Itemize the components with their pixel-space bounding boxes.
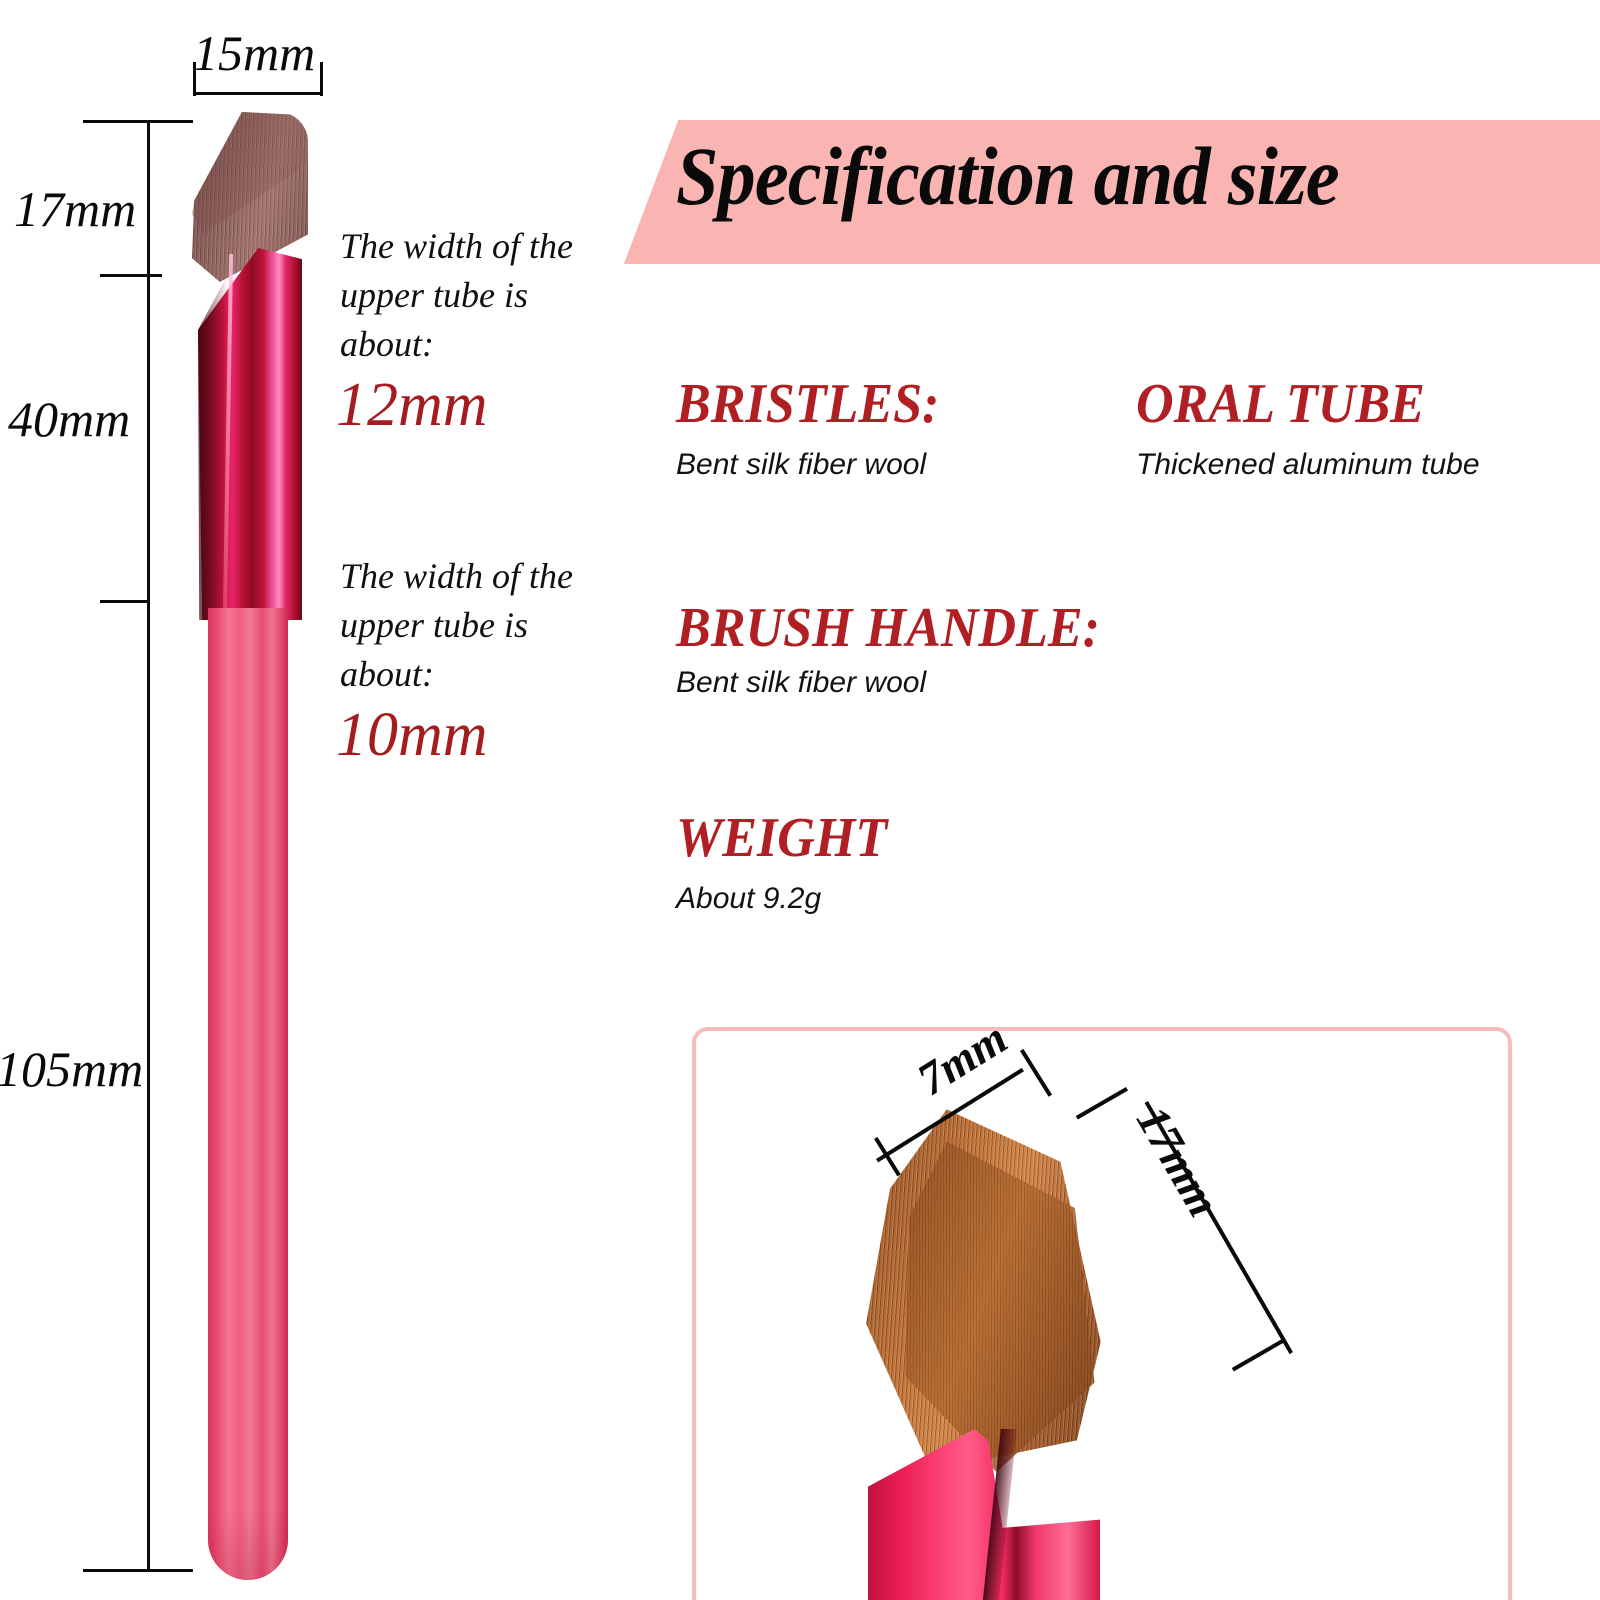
closeup-17mm-tick-bottom	[1232, 1339, 1284, 1371]
page-title: Specification and size	[676, 128, 1504, 224]
closeup-7mm-tick-right	[1020, 1049, 1052, 1097]
spec-heading-brush-handle: BRUSH HANDLE:	[676, 596, 1100, 660]
closeup-ferrule	[868, 1429, 1100, 1600]
callout-upper-tube-line1: The width of the	[340, 225, 573, 267]
brush-illustration-main	[170, 108, 350, 1588]
callout-value-10mm: 10mm	[336, 700, 488, 771]
callout-handle-line2: upper tube is	[340, 604, 528, 646]
label-15mm: 15mm	[193, 24, 315, 82]
spec-detail-brush-handle: Bent silk fiber wool	[676, 666, 926, 700]
dimension-tick-bristle-end	[100, 274, 162, 277]
length-dimension-line	[147, 120, 150, 1572]
brush-handle-tip	[208, 1508, 288, 1580]
closeup-label-7mm: 7mm	[908, 1027, 1016, 1106]
spec-detail-weight: About 9.2g	[676, 882, 821, 916]
spec-heading-weight: WEIGHT	[676, 806, 887, 870]
closeup-17mm-dimension-line	[1145, 1101, 1293, 1354]
spec-detail-oral-tube: Thickened aluminum tube	[1136, 448, 1480, 482]
callout-upper-tube-line3: about:	[340, 323, 434, 365]
spec-heading-bristles: BRISTLES:	[676, 372, 939, 436]
callout-upper-tube-line2: upper tube is	[340, 274, 528, 316]
label-105mm: 105mm	[0, 1040, 143, 1098]
label-17mm: 17mm	[14, 180, 136, 238]
spec-heading-oral-tube: ORAL TUBE	[1136, 372, 1425, 436]
callout-handle-line1: The width of the	[340, 555, 573, 597]
callout-handle-line3: about:	[340, 653, 434, 695]
dimension-tick-ferrule-end	[100, 600, 150, 603]
spec-detail-bristles: Bent silk fiber wool	[676, 448, 926, 482]
specification-infographic: 15mm 17mm 40mm 105mm The width of the up…	[0, 0, 1600, 1600]
width-dimension-tick-right	[320, 62, 323, 96]
closeup-card: 7mm 17mm	[692, 1027, 1512, 1600]
label-40mm: 40mm	[8, 390, 130, 448]
closeup-17mm-tick-top	[1076, 1087, 1128, 1119]
brush-handle	[208, 608, 288, 1580]
width-dimension-line	[193, 92, 323, 95]
callout-value-12mm: 12mm	[336, 370, 488, 441]
